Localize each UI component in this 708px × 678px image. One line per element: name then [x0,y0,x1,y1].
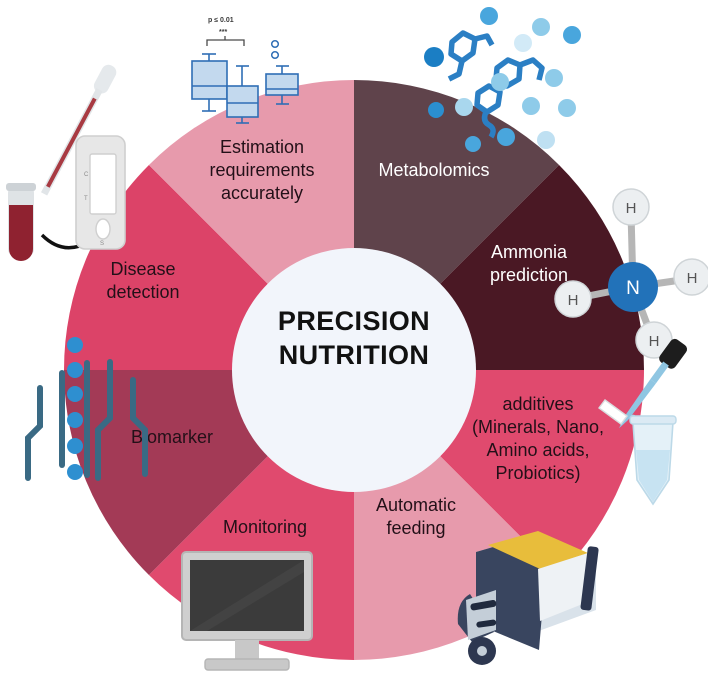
label-additives-3: Amino acids, [486,440,589,460]
boxplot-pvalue: p ≤ 0.01 [208,17,234,24]
label-disease-2: detection [106,282,179,302]
atom-label-n: N [626,278,640,299]
label-feeding-2: feeding [386,518,445,538]
test-marker-c: C [84,172,89,178]
center-title-line2: NUTRITION [279,340,430,370]
test-marker-s: S [100,241,104,247]
label-monitoring: Monitoring [223,517,307,537]
center-circle [232,248,476,492]
precision-nutrition-wheel: PRECISION NUTRITION Metabolomics Ammonia… [0,0,708,678]
label-ammonia-2: prediction [490,265,568,285]
boxplot-box-1 [192,54,227,111]
boxplot-stars: *** [219,29,227,36]
atom-label-h-right: H [687,270,698,287]
label-estimation-2: requirements [209,160,314,180]
label-estimation-3: accurately [221,183,303,203]
boxplot-outlier [272,41,279,48]
label-additives-4: Probiotics) [495,463,580,483]
label-feeding-1: Automatic [376,495,456,515]
label-estimation-1: Estimation [220,137,304,157]
label-disease-1: Disease [110,259,175,279]
atom-label-h-bottom: H [649,333,660,350]
label-additives-2: (Minerals, Nano, [472,417,604,437]
boxplot-box-3 [266,41,298,104]
atom-label-h-top: H [626,200,637,217]
label-ammonia-1: Ammonia [491,242,568,262]
rapid-test-icon: C T S [6,62,125,261]
label-metabolomics: Metabolomics [378,160,489,180]
atom-label-h-left: H [568,292,579,309]
boxplot-box-2 [227,66,258,123]
center-title-line1: PRECISION [278,306,430,336]
diagram-canvas: PRECISION NUTRITION Metabolomics Ammonia… [0,0,708,678]
boxplot-outlier [272,52,279,59]
test-marker-t: T [84,196,88,202]
label-additives-1: additives [502,394,573,414]
